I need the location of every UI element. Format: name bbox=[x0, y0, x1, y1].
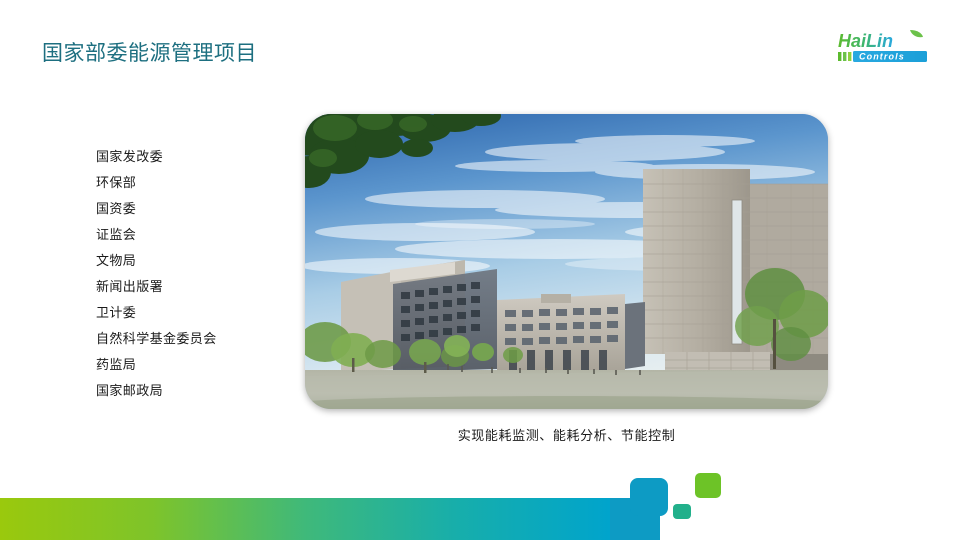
list-item: 卫计委 bbox=[96, 300, 296, 326]
footer-accent-square-teal bbox=[673, 504, 691, 519]
list-item: 国资委 bbox=[96, 196, 296, 222]
agency-list: 国家发改委 环保部 国资委 证监会 文物局 新闻出版署 卫计委 自然科学基金委员… bbox=[96, 144, 296, 404]
building-photo bbox=[305, 114, 828, 409]
footer-accent-square-green bbox=[695, 473, 721, 498]
photo-canvas bbox=[305, 114, 828, 409]
slide-root: 国家部委能源管理项目 HaiLin bbox=[0, 0, 960, 540]
list-item: 环保部 bbox=[96, 170, 296, 196]
logo-subtitle: Controls bbox=[859, 52, 905, 62]
photo-caption: 实现能耗监测、能耗分析、节能控制 bbox=[305, 426, 828, 446]
footer-accent-tab bbox=[630, 478, 668, 516]
logo-bars bbox=[838, 52, 851, 61]
footer-gradient-bar bbox=[0, 498, 610, 540]
list-item: 国家邮政局 bbox=[96, 378, 296, 404]
list-item: 国家发改委 bbox=[96, 144, 296, 170]
leaf-icon bbox=[910, 30, 923, 37]
page-title: 国家部委能源管理项目 bbox=[42, 40, 257, 68]
footer-decoration bbox=[0, 470, 960, 540]
list-item: 新闻出版署 bbox=[96, 274, 296, 300]
list-item: 文物局 bbox=[96, 248, 296, 274]
list-item: 药监局 bbox=[96, 352, 296, 378]
hailin-logo: HaiLin Controls bbox=[832, 28, 942, 68]
list-item: 自然科学基金委员会 bbox=[96, 326, 296, 352]
logo-wordmark: HaiLin bbox=[838, 31, 893, 51]
list-item: 证监会 bbox=[96, 222, 296, 248]
